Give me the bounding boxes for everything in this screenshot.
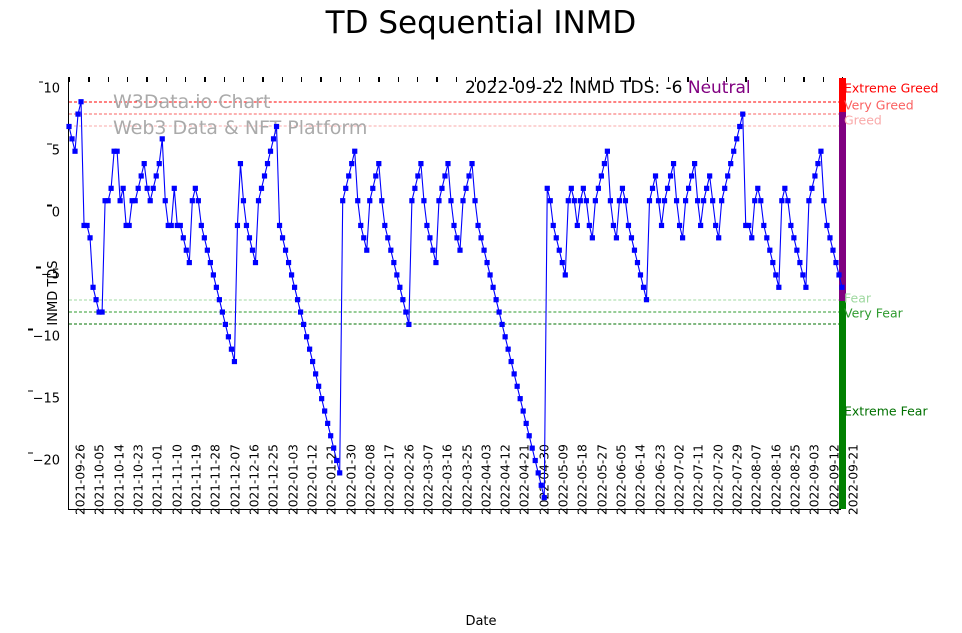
data-point-marker bbox=[821, 198, 826, 203]
data-point-marker bbox=[725, 173, 730, 178]
data-point-marker bbox=[334, 458, 339, 463]
plot-area: INMD TDS 1050−5−10−15−20 2021-09-262021-… bbox=[68, 77, 841, 510]
data-point-marker bbox=[755, 186, 760, 191]
data-point-marker bbox=[169, 223, 174, 228]
data-point-marker bbox=[145, 186, 150, 191]
data-point-marker bbox=[451, 223, 456, 228]
data-point-marker bbox=[331, 446, 336, 451]
data-point-marker bbox=[572, 198, 577, 203]
data-point-marker bbox=[187, 260, 192, 265]
y-tick-mark bbox=[28, 452, 33, 453]
data-point-marker bbox=[436, 198, 441, 203]
data-point-marker bbox=[602, 161, 607, 166]
data-point-marker bbox=[178, 223, 183, 228]
data-point-marker bbox=[487, 272, 492, 277]
zone-label: Extreme Greed bbox=[844, 81, 938, 96]
data-point-marker bbox=[641, 285, 646, 290]
data-point-marker bbox=[418, 161, 423, 166]
data-point-marker bbox=[208, 260, 213, 265]
data-point-marker bbox=[262, 173, 267, 178]
data-point-marker bbox=[244, 223, 249, 228]
data-point-marker bbox=[382, 223, 387, 228]
data-point-marker bbox=[319, 396, 324, 401]
data-point-marker bbox=[394, 272, 399, 277]
series-line bbox=[69, 102, 842, 498]
data-point-marker bbox=[776, 285, 781, 290]
data-point-marker bbox=[250, 248, 255, 253]
data-point-marker bbox=[638, 272, 643, 277]
y-tick-label: −20 bbox=[33, 453, 69, 468]
data-point-marker bbox=[794, 248, 799, 253]
data-point-marker bbox=[779, 198, 784, 203]
data-point-marker bbox=[193, 186, 198, 191]
data-point-marker bbox=[220, 309, 225, 314]
data-point-marker bbox=[139, 173, 144, 178]
data-point-marker bbox=[442, 173, 447, 178]
data-point-marker bbox=[815, 161, 820, 166]
data-point-marker bbox=[84, 223, 89, 228]
data-point-marker bbox=[316, 384, 321, 389]
data-point-marker bbox=[806, 198, 811, 203]
data-point-marker bbox=[388, 248, 393, 253]
data-point-marker bbox=[563, 272, 568, 277]
data-point-marker bbox=[839, 285, 844, 290]
data-point-marker bbox=[521, 408, 526, 413]
data-point-marker bbox=[635, 260, 640, 265]
data-point-marker bbox=[599, 173, 604, 178]
data-point-marker bbox=[214, 285, 219, 290]
data-point-marker bbox=[226, 334, 231, 339]
data-point-marker bbox=[274, 124, 279, 129]
data-point-marker bbox=[554, 235, 559, 240]
data-point-marker bbox=[400, 297, 405, 302]
data-point-marker bbox=[668, 173, 673, 178]
data-point-marker bbox=[448, 198, 453, 203]
data-point-marker bbox=[731, 149, 736, 154]
data-point-marker bbox=[560, 260, 565, 265]
page-title: TD Sequential INMD bbox=[0, 5, 962, 41]
data-point-marker bbox=[788, 223, 793, 228]
data-point-marker bbox=[286, 260, 291, 265]
data-point-marker bbox=[593, 198, 598, 203]
zone-label: Very Greed bbox=[844, 98, 914, 113]
data-point-marker bbox=[211, 272, 216, 277]
data-point-marker bbox=[154, 173, 159, 178]
data-point-marker bbox=[584, 198, 589, 203]
data-point-marker bbox=[728, 161, 733, 166]
data-point-marker bbox=[241, 198, 246, 203]
data-point-marker bbox=[409, 198, 414, 203]
data-point-marker bbox=[512, 371, 517, 376]
data-point-marker bbox=[536, 470, 541, 475]
data-point-marker bbox=[340, 198, 345, 203]
y-tick-mark bbox=[36, 267, 41, 268]
data-point-marker bbox=[235, 223, 240, 228]
data-point-marker bbox=[69, 136, 74, 141]
data-point-marker bbox=[196, 198, 201, 203]
data-point-marker bbox=[680, 235, 685, 240]
data-point-marker bbox=[518, 396, 523, 401]
data-point-marker bbox=[803, 285, 808, 290]
data-point-marker bbox=[232, 359, 237, 364]
data-point-marker bbox=[217, 297, 222, 302]
data-point-marker bbox=[127, 223, 132, 228]
data-point-marker bbox=[184, 248, 189, 253]
data-point-marker bbox=[773, 272, 778, 277]
data-point-marker bbox=[469, 161, 474, 166]
data-point-marker bbox=[740, 112, 745, 117]
data-point-marker bbox=[551, 223, 556, 228]
y-tick-label: −5 bbox=[41, 267, 69, 282]
data-point-marker bbox=[385, 235, 390, 240]
data-point-marker bbox=[698, 223, 703, 228]
data-point-marker bbox=[337, 470, 342, 475]
data-point-marker bbox=[373, 173, 378, 178]
data-point-marker bbox=[118, 198, 123, 203]
data-point-marker bbox=[445, 161, 450, 166]
data-point-marker bbox=[578, 198, 583, 203]
data-point-marker bbox=[770, 260, 775, 265]
data-point-marker bbox=[767, 248, 772, 253]
data-point-marker bbox=[121, 186, 126, 191]
data-point-marker bbox=[752, 198, 757, 203]
y-tick-label: 10 bbox=[43, 82, 69, 97]
y-tick-mark bbox=[47, 205, 52, 206]
data-point-marker bbox=[256, 198, 261, 203]
data-point-marker bbox=[259, 186, 264, 191]
data-point-marker bbox=[719, 198, 724, 203]
y-tick-label: 0 bbox=[52, 206, 69, 221]
data-point-marker bbox=[430, 248, 435, 253]
data-point-marker bbox=[659, 223, 664, 228]
data-point-marker bbox=[205, 248, 210, 253]
data-point-marker bbox=[530, 446, 535, 451]
data-point-marker bbox=[460, 198, 465, 203]
data-point-marker bbox=[746, 223, 751, 228]
data-point-marker bbox=[148, 198, 153, 203]
data-point-marker bbox=[78, 99, 83, 104]
data-point-marker bbox=[692, 161, 697, 166]
data-point-marker bbox=[686, 186, 691, 191]
data-point-marker bbox=[830, 248, 835, 253]
data-point-marker bbox=[322, 408, 327, 413]
data-point-marker bbox=[454, 235, 459, 240]
data-point-marker bbox=[647, 198, 652, 203]
data-point-marker bbox=[758, 198, 763, 203]
data-point-marker bbox=[271, 136, 276, 141]
data-point-marker bbox=[809, 186, 814, 191]
data-point-marker bbox=[307, 347, 312, 352]
data-point-marker bbox=[160, 136, 165, 141]
data-point-marker bbox=[289, 272, 294, 277]
data-point-marker bbox=[199, 223, 204, 228]
data-point-marker bbox=[421, 198, 426, 203]
data-point-marker bbox=[515, 384, 520, 389]
data-point-marker bbox=[151, 186, 156, 191]
data-point-marker bbox=[689, 173, 694, 178]
zone-label: Greed bbox=[844, 113, 882, 128]
data-point-marker bbox=[497, 309, 502, 314]
data-point-marker bbox=[503, 334, 508, 339]
data-point-marker bbox=[764, 235, 769, 240]
data-point-marker bbox=[623, 198, 628, 203]
data-point-marker bbox=[509, 359, 514, 364]
data-point-marker bbox=[346, 173, 351, 178]
data-point-marker bbox=[614, 235, 619, 240]
data-point-marker bbox=[90, 285, 95, 290]
data-point-marker bbox=[836, 272, 841, 277]
data-point-marker bbox=[605, 149, 610, 154]
data-point-marker bbox=[172, 186, 177, 191]
data-point-marker bbox=[722, 186, 727, 191]
data-point-marker bbox=[704, 186, 709, 191]
data-point-marker bbox=[737, 124, 742, 129]
data-point-marker bbox=[569, 186, 574, 191]
x-tick-label: 2022-09-21 bbox=[847, 444, 861, 515]
data-point-marker bbox=[265, 161, 270, 166]
data-point-marker bbox=[99, 309, 104, 314]
data-point-marker bbox=[484, 260, 489, 265]
data-point-marker bbox=[797, 260, 802, 265]
data-point-marker bbox=[295, 297, 300, 302]
data-point-marker bbox=[695, 198, 700, 203]
data-point-marker bbox=[304, 334, 309, 339]
data-point-marker bbox=[283, 248, 288, 253]
data-point-marker bbox=[671, 161, 676, 166]
data-point-marker bbox=[713, 223, 718, 228]
data-point-marker bbox=[301, 322, 306, 327]
data-point-marker bbox=[824, 223, 829, 228]
data-point-marker bbox=[812, 173, 817, 178]
data-point-marker bbox=[253, 260, 258, 265]
data-point-marker bbox=[581, 186, 586, 191]
data-point-marker bbox=[620, 186, 625, 191]
data-point-marker bbox=[575, 223, 580, 228]
data-point-marker bbox=[355, 198, 360, 203]
y-tick-mark bbox=[28, 390, 33, 391]
data-point-marker bbox=[223, 322, 228, 327]
data-point-marker bbox=[542, 495, 547, 500]
data-point-marker bbox=[163, 198, 168, 203]
zone-label: Extreme Fear bbox=[844, 404, 928, 419]
x-axis-label: Date bbox=[0, 614, 962, 629]
y-tick-label: 5 bbox=[52, 144, 69, 159]
data-point-marker bbox=[463, 186, 468, 191]
data-point-marker bbox=[364, 248, 369, 253]
data-point-marker bbox=[277, 223, 282, 228]
data-point-marker bbox=[539, 483, 544, 488]
data-point-marker bbox=[665, 186, 670, 191]
data-point-marker bbox=[87, 235, 92, 240]
data-point-marker bbox=[352, 149, 357, 154]
data-point-marker bbox=[367, 198, 372, 203]
data-point-marker bbox=[707, 173, 712, 178]
data-point-marker bbox=[527, 433, 532, 438]
data-point-marker bbox=[785, 198, 790, 203]
data-point-marker bbox=[325, 421, 330, 426]
zone-label: Fear bbox=[844, 291, 871, 306]
y-tick-label: −10 bbox=[33, 329, 69, 344]
data-point-marker bbox=[827, 235, 832, 240]
data-point-marker bbox=[716, 235, 721, 240]
data-point-marker bbox=[391, 260, 396, 265]
data-point-marker bbox=[818, 149, 823, 154]
data-point-marker bbox=[75, 112, 80, 117]
data-point-marker bbox=[472, 198, 477, 203]
data-point-marker bbox=[415, 173, 420, 178]
data-point-marker bbox=[587, 223, 592, 228]
data-point-marker bbox=[379, 198, 384, 203]
data-point-marker bbox=[280, 235, 285, 240]
data-point-marker bbox=[632, 248, 637, 253]
data-point-marker bbox=[494, 297, 499, 302]
data-point-marker bbox=[229, 347, 234, 352]
y-tick-mark bbox=[39, 81, 44, 82]
data-point-marker bbox=[475, 223, 480, 228]
data-point-marker bbox=[403, 309, 408, 314]
data-point-marker bbox=[629, 235, 634, 240]
data-point-marker bbox=[133, 198, 138, 203]
data-point-marker bbox=[427, 235, 432, 240]
data-point-marker bbox=[72, 149, 77, 154]
data-point-marker bbox=[683, 198, 688, 203]
data-point-marker bbox=[106, 198, 111, 203]
data-point-marker bbox=[343, 186, 348, 191]
data-point-marker bbox=[557, 248, 562, 253]
data-point-marker bbox=[608, 198, 613, 203]
data-point-marker bbox=[93, 297, 98, 302]
zone-label: Very Fear bbox=[844, 306, 903, 321]
data-point-marker bbox=[791, 235, 796, 240]
data-point-marker bbox=[349, 161, 354, 166]
data-point-marker bbox=[439, 186, 444, 191]
data-point-marker bbox=[626, 223, 631, 228]
data-point-marker bbox=[412, 186, 417, 191]
chart-root: TD Sequential INMD INMD TDS 1050−5−10−15… bbox=[0, 0, 962, 633]
data-point-marker bbox=[298, 309, 303, 314]
data-point-marker bbox=[424, 223, 429, 228]
data-point-marker bbox=[677, 223, 682, 228]
data-point-marker bbox=[701, 198, 706, 203]
data-point-marker bbox=[710, 198, 715, 203]
series-inmd-tds bbox=[69, 77, 842, 510]
data-point-marker bbox=[268, 149, 273, 154]
data-point-marker bbox=[506, 347, 511, 352]
data-point-marker bbox=[310, 359, 315, 364]
data-point-marker bbox=[190, 198, 195, 203]
data-point-marker bbox=[782, 186, 787, 191]
data-point-marker bbox=[650, 186, 655, 191]
data-point-marker bbox=[406, 322, 411, 327]
data-point-marker bbox=[358, 223, 363, 228]
y-tick-label: −15 bbox=[33, 391, 69, 406]
data-point-marker bbox=[674, 198, 679, 203]
data-point-marker bbox=[800, 272, 805, 277]
data-point-marker bbox=[433, 260, 438, 265]
data-point-marker bbox=[292, 285, 297, 290]
data-point-marker bbox=[247, 235, 252, 240]
data-point-marker bbox=[524, 421, 529, 426]
data-point-marker bbox=[548, 198, 553, 203]
data-point-marker bbox=[734, 136, 739, 141]
data-point-marker bbox=[370, 186, 375, 191]
data-point-marker bbox=[749, 235, 754, 240]
data-point-marker bbox=[466, 173, 471, 178]
data-point-marker bbox=[833, 260, 838, 265]
data-point-marker bbox=[662, 198, 667, 203]
data-point-marker bbox=[656, 198, 661, 203]
data-point-marker bbox=[481, 248, 486, 253]
data-point-marker bbox=[457, 248, 462, 253]
data-point-marker bbox=[644, 297, 649, 302]
data-point-marker bbox=[545, 186, 550, 191]
data-point-marker bbox=[611, 223, 616, 228]
data-point-marker bbox=[115, 149, 120, 154]
data-point-marker bbox=[202, 235, 207, 240]
y-tick-mark bbox=[47, 143, 52, 144]
data-point-marker bbox=[653, 173, 658, 178]
data-point-marker bbox=[181, 235, 186, 240]
data-point-marker bbox=[566, 198, 571, 203]
data-point-marker bbox=[397, 285, 402, 290]
data-point-marker bbox=[617, 198, 622, 203]
data-point-marker bbox=[136, 186, 141, 191]
data-point-marker bbox=[376, 161, 381, 166]
data-point-marker bbox=[361, 235, 366, 240]
data-point-marker bbox=[533, 458, 538, 463]
data-point-marker bbox=[238, 161, 243, 166]
data-point-marker bbox=[590, 235, 595, 240]
data-point-marker bbox=[109, 186, 114, 191]
data-point-marker bbox=[491, 285, 496, 290]
data-point-marker bbox=[500, 322, 505, 327]
data-point-marker bbox=[596, 186, 601, 191]
data-point-marker bbox=[142, 161, 147, 166]
y-tick-mark bbox=[28, 329, 33, 330]
data-point-marker bbox=[761, 223, 766, 228]
data-point-marker bbox=[313, 371, 318, 376]
data-point-marker bbox=[328, 433, 333, 438]
data-point-marker bbox=[478, 235, 483, 240]
data-point-marker bbox=[157, 161, 162, 166]
data-point-marker bbox=[66, 124, 71, 129]
